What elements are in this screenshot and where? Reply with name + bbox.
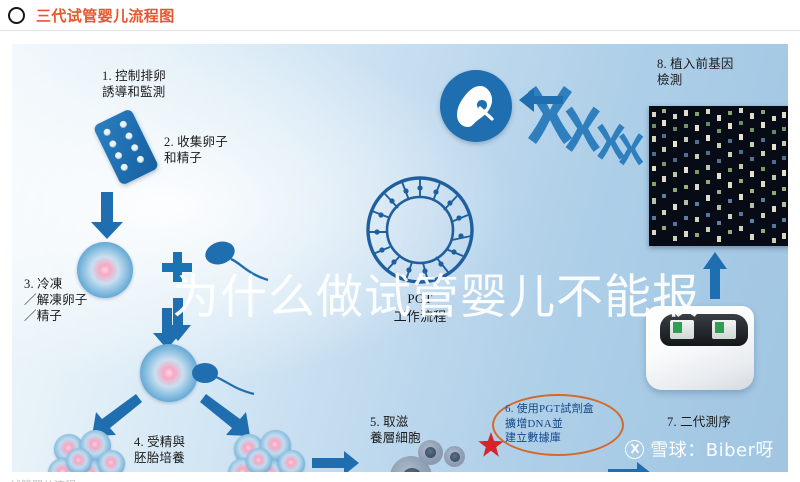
fetus-badge-icon: [440, 70, 512, 142]
step-4-label: 4. 受精與 胚胎培養: [134, 434, 185, 466]
screenshot-root: 三代试管婴儿流程图 1. 控制排卵 誘導和監測 2. 收集卵子 和精子: [0, 0, 800, 482]
pill-blister-icon: [93, 108, 160, 186]
fertilised-oocyte-icon: [140, 344, 198, 402]
sperm-icon: [200, 240, 270, 290]
footer-cut-text: 试管婴儿流程: [10, 477, 76, 482]
sequencer-machine-icon: [646, 306, 754, 390]
xueqiu-logo-icon: [625, 440, 644, 459]
watermark-corner: 雪球：Biber呀: [625, 436, 774, 462]
arrow-up-to-step8: [702, 252, 728, 300]
plus-icon: [162, 252, 192, 282]
genome-heatmap-icon: [649, 106, 788, 246]
page-title: 三代试管婴儿流程图: [36, 5, 175, 26]
pgt-center-label-line1: PGT: [384, 290, 456, 307]
step-7-label: 7. 二代測序: [667, 414, 731, 430]
step-5-label: 5. 取滋 養層細胞: [370, 414, 421, 446]
watermark-corner-text: 雪球：Biber呀: [650, 436, 774, 462]
arrow-branch-right: [198, 392, 252, 438]
step-2-label: 2. 收集卵子 和精子: [164, 134, 228, 166]
step-8-label: 8. 植入前基因 檢測: [657, 56, 734, 88]
pgt-center-label-line2: 工作流程: [372, 308, 468, 325]
arrow-right-to-step5: [312, 450, 360, 472]
arrow-down-step1: [90, 192, 124, 240]
step-6-label: 6. 使用PGT試劑盒 擴增DNA並 建立數據庫: [505, 402, 594, 446]
circle-outline-icon: [8, 7, 25, 24]
blastocyst-icon: [364, 174, 476, 286]
arrow-left-to-fetus: [518, 86, 564, 114]
page-header: 三代试管婴儿流程图: [0, 0, 800, 31]
flowchart-figure: 1. 控制排卵 誘導和監測 2. 收集卵子 和精子 3. 冷凍 ／解凍: [12, 44, 788, 472]
step-3-label: 3. 冷凍 ／解凍卵子 ／精子: [24, 276, 88, 324]
step-1-label: 1. 控制排卵 誘導和監測: [102, 68, 166, 100]
